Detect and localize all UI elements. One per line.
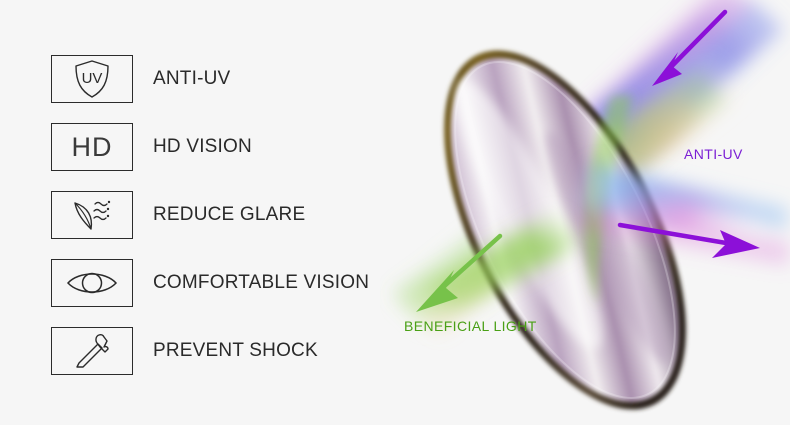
- feature-label-comfortable-vision: COMFORTABLE VISION: [153, 272, 369, 294]
- hd-text-icon: HD: [51, 123, 133, 171]
- feature-label-prevent-shock: PREVENT SHOCK: [153, 340, 318, 362]
- coated-lens-light-diagram: [380, 0, 790, 425]
- feature-row-anti-uv: UV ANTI-UV: [51, 55, 421, 103]
- hammer-icon: [51, 327, 133, 375]
- label-anti-uv: ANTI-UV: [684, 146, 743, 162]
- uv-shield-icon: UV: [51, 55, 133, 103]
- feature-row-comfortable-vision: COMFORTABLE VISION: [51, 259, 421, 307]
- feature-label-reduce-glare: REDUCE GLARE: [153, 204, 305, 226]
- feature-label-anti-uv: ANTI-UV: [153, 68, 230, 90]
- label-beneficial-light: BENEFICIAL LIGHT: [404, 318, 537, 334]
- hd-glyph: HD: [72, 132, 113, 163]
- feature-label-hd-vision: HD VISION: [153, 136, 252, 158]
- glare-reduction-icon: [51, 191, 133, 239]
- product-feature-banner: UV ANTI-UV HD HD VISION: [0, 0, 790, 425]
- feature-list: UV ANTI-UV HD HD VISION: [51, 55, 421, 395]
- svg-text:UV: UV: [82, 70, 103, 87]
- feature-row-prevent-shock: PREVENT SHOCK: [51, 327, 421, 375]
- feature-row-hd-vision: HD HD VISION: [51, 123, 421, 171]
- eye-icon: [51, 259, 133, 307]
- feature-row-reduce-glare: REDUCE GLARE: [51, 191, 421, 239]
